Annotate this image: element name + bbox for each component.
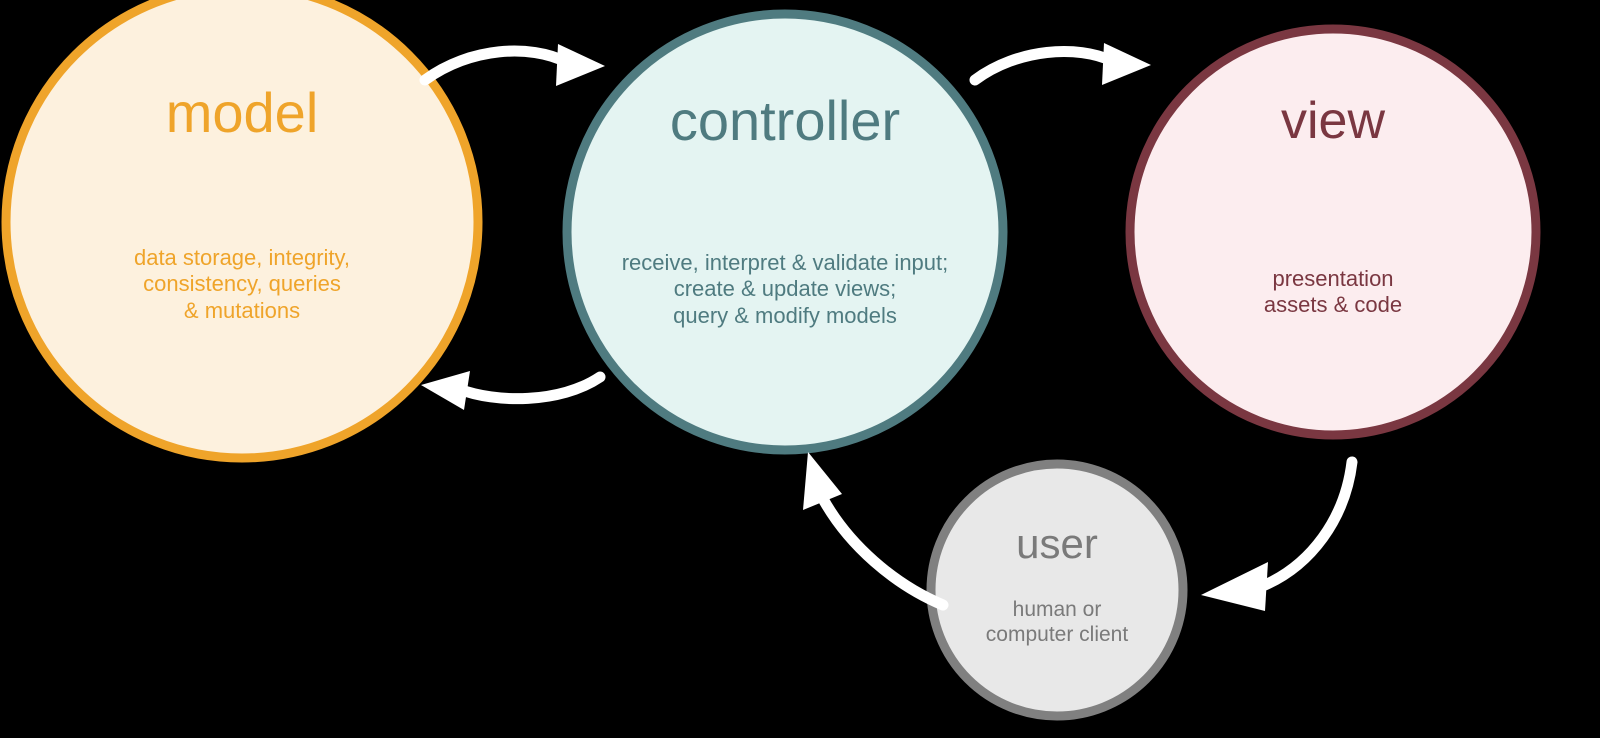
diagram-canvas: model data storage, integrity, consisten… bbox=[0, 0, 1600, 738]
edge-controller-to-view-arrowhead bbox=[1102, 43, 1151, 85]
user-circle[interactable] bbox=[931, 464, 1183, 716]
edge-controller-to-model-arrowhead bbox=[421, 371, 470, 410]
edge-view-to-user-line bbox=[1265, 462, 1352, 585]
node-user[interactable] bbox=[931, 464, 1183, 716]
edge-model-to-controller-arrowhead bbox=[556, 44, 605, 86]
controller-circle[interactable] bbox=[567, 14, 1003, 450]
edge-controller-to-view bbox=[975, 43, 1151, 85]
edge-view-to-user bbox=[1201, 462, 1352, 611]
edge-user-to-controller-arrowhead bbox=[803, 452, 842, 510]
node-view[interactable] bbox=[1130, 29, 1536, 435]
view-circle[interactable] bbox=[1130, 29, 1536, 435]
edge-controller-to-view-line bbox=[975, 52, 1112, 80]
node-controller[interactable] bbox=[567, 14, 1003, 450]
edge-model-to-controller bbox=[425, 44, 605, 86]
edge-controller-to-model bbox=[421, 371, 600, 410]
node-model[interactable] bbox=[6, 0, 478, 458]
edge-user-to-controller-line bbox=[822, 497, 943, 605]
edge-view-to-user-arrowhead bbox=[1201, 562, 1268, 611]
edge-user-to-controller bbox=[803, 452, 943, 605]
diagram-svg bbox=[0, 0, 1600, 738]
model-circle[interactable] bbox=[6, 0, 478, 458]
edge-model-to-controller-line bbox=[425, 51, 566, 80]
edge-controller-to-model-line bbox=[459, 377, 600, 399]
